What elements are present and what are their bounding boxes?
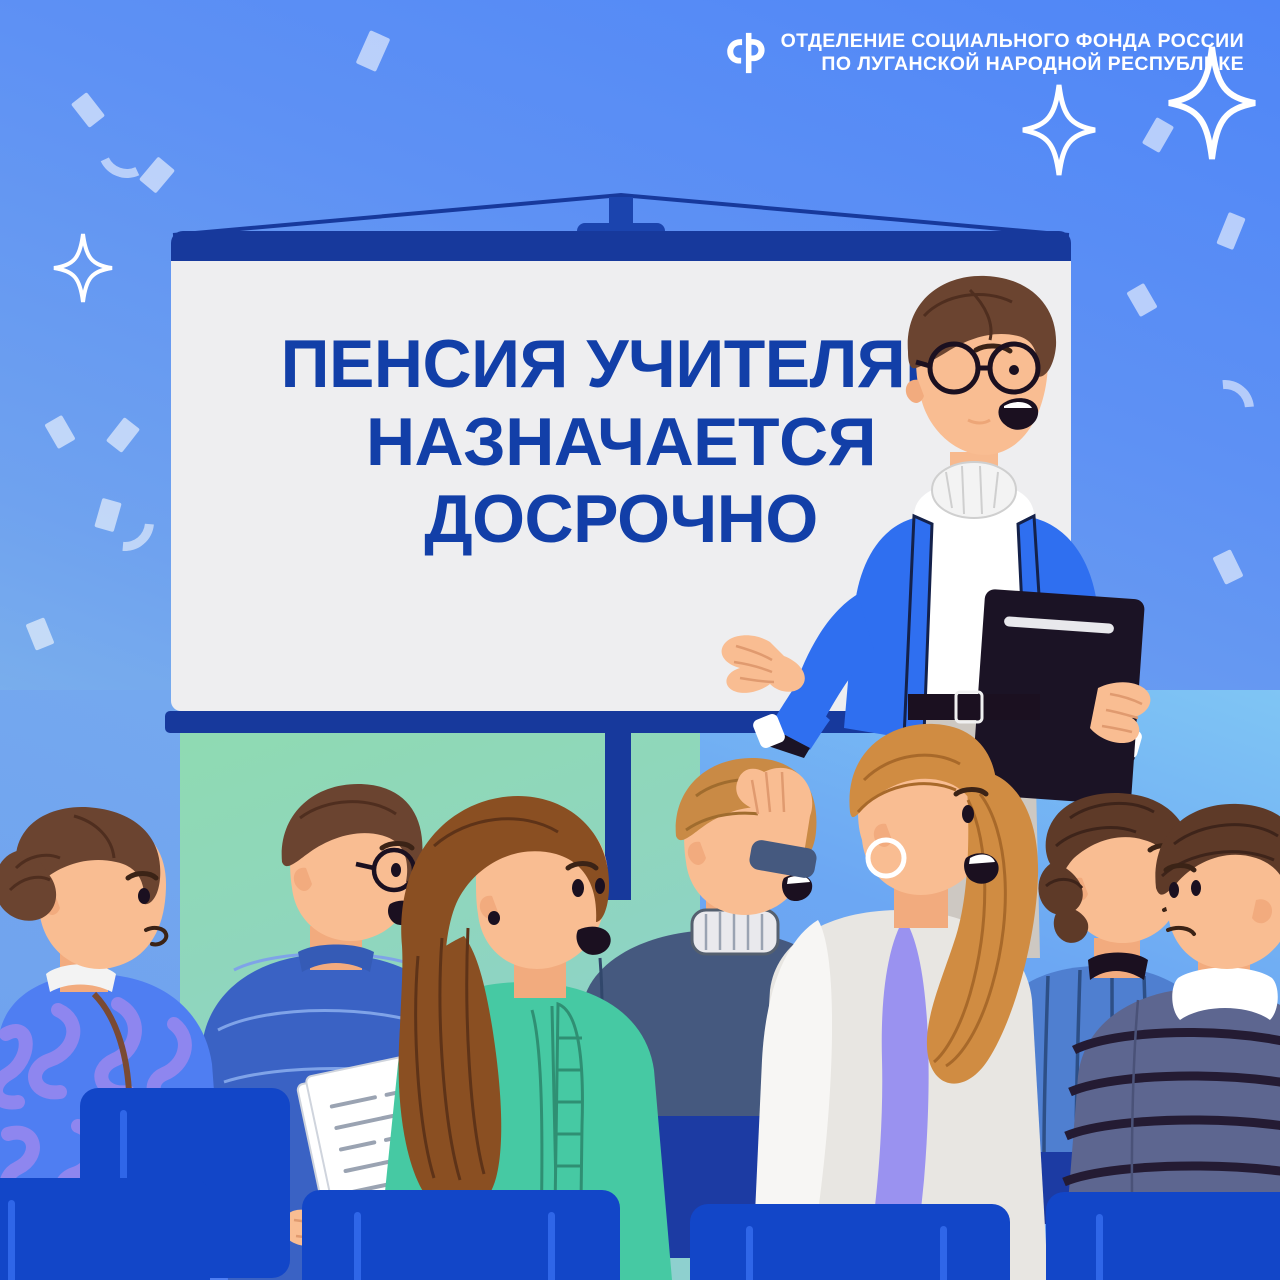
organization-name: ОТДЕЛЕНИЕ СОЦИАЛЬНОГО ФОНДА РОССИИ ПО ЛУ… [781, 30, 1244, 75]
chair [1046, 1192, 1280, 1280]
sfr-logo-icon [721, 30, 767, 76]
chair [690, 1204, 1010, 1280]
audience-woman-ponytail [718, 760, 1058, 1280]
organization-header: ОТДЕЛЕНИЕ СОЦИАЛЬНОГО ФОНДА РОССИИ ПО ЛУ… [721, 30, 1244, 76]
chair [302, 1190, 620, 1280]
board-top-frame [171, 231, 1071, 261]
chair [0, 1178, 210, 1280]
poster-canvas: ПЕНСИЯ УЧИТЕЛЯМ НАЗНАЧАЕТСЯ ДОСРОЧНО [0, 0, 1280, 1280]
